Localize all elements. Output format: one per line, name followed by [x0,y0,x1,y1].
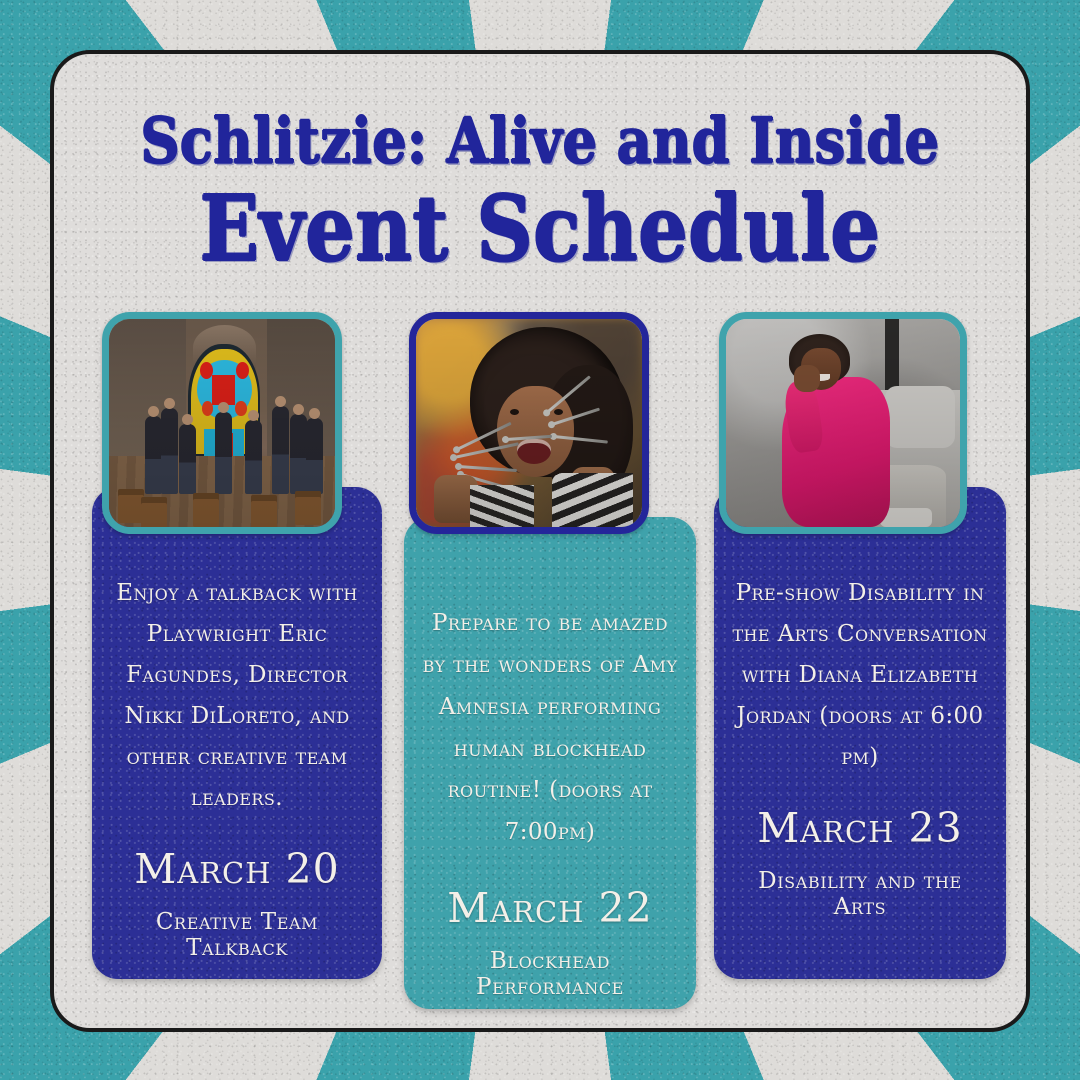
blockhead-performer-photo [416,319,642,527]
event-schedule-poster: Schlitzie: Alive and Inside Event Schedu… [0,0,1080,1080]
event-card-2[interactable]: Prepare to be amazed by the wonders of A… [404,517,696,1009]
event-photo-1 [102,312,342,534]
event-description-1: Enjoy a talkback with Playwright Eric Fa… [110,573,364,819]
event-description-3: Pre-show Disability in the Arts Conversa… [732,573,988,778]
event-date-2: March 22 [422,884,678,932]
diana-elizabeth-jordan-photo [726,319,960,527]
event-date-3: March 23 [732,804,988,852]
event-card-1[interactable]: Enjoy a talkback with Playwright Eric Fa… [92,487,382,979]
event-photo-3 [719,312,967,534]
event-description-2: Prepare to be amazed by the wonders of A… [422,603,678,854]
event-card-3[interactable]: Pre-show Disability in the Arts Conversa… [714,487,1006,979]
poster-title-show-name: Schlitzie: Alive and Inside [88,110,992,173]
rehearsal-hall-photo [109,319,335,527]
event-label-1: Creative Team Talkback [110,909,364,961]
event-label-3: Disability and the Arts [732,868,988,920]
event-date-1: March 20 [110,845,364,893]
poster-title-block: Schlitzie: Alive and Inside Event Schedu… [54,112,1026,270]
event-photo-2 [409,312,649,534]
poster-title-event-schedule: Event Schedule [78,184,1001,274]
event-label-2: Blockhead Performance [422,948,678,1000]
poster-panel: Schlitzie: Alive and Inside Event Schedu… [50,50,1030,1032]
